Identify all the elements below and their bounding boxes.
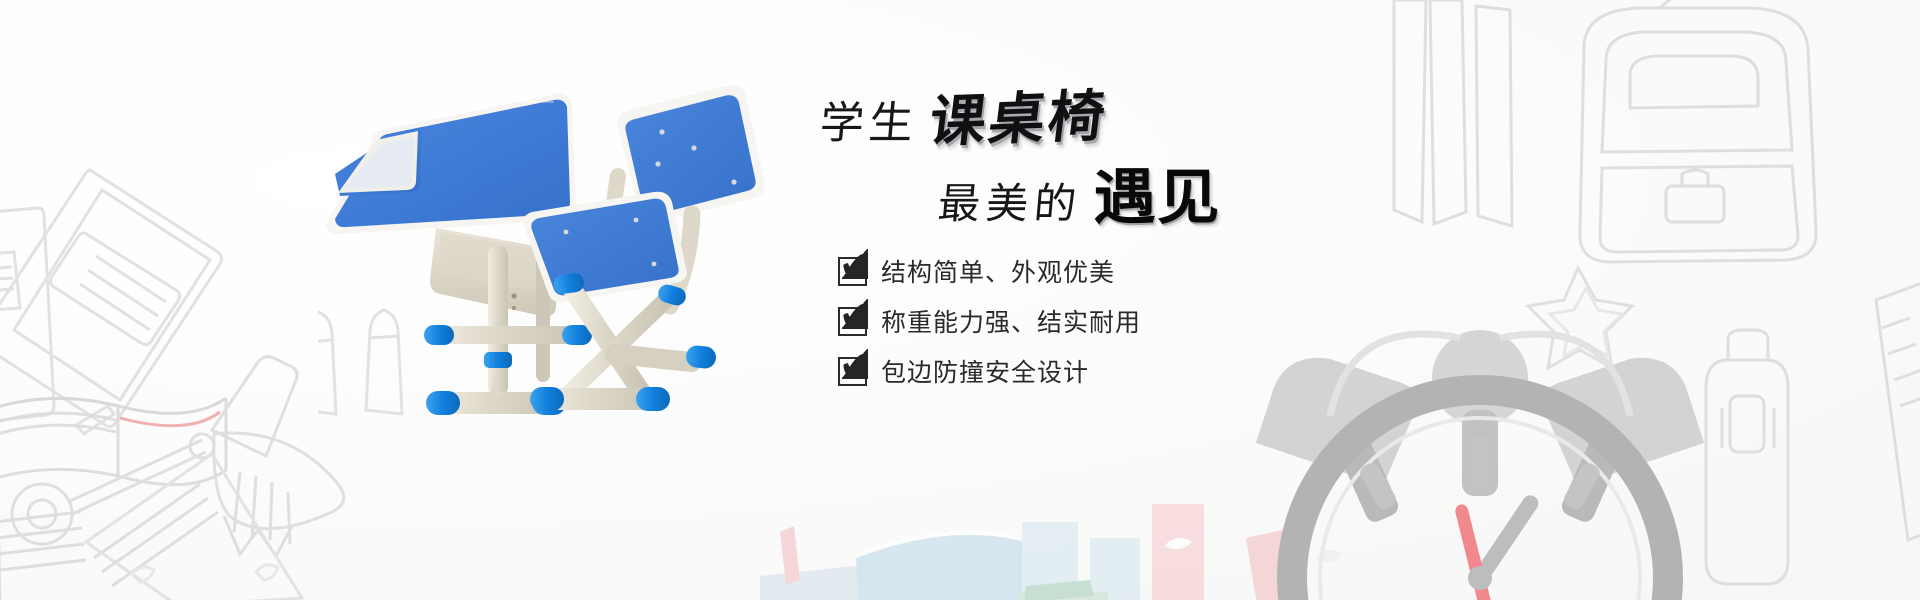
feature-label: 结构简单、外观优美 [881, 253, 1115, 289]
book-stack-art [760, 380, 1380, 600]
feature-item: ✔ 包边防撞安全设计 [838, 350, 1141, 392]
promo-banner: 学生 课桌椅 最美的 遇见 ✔ 结构简单、外观优美 ✔ 称重能力强、结实耐用 ✔ [0, 0, 1920, 600]
headline-line2-large: 遇见 [1094, 168, 1221, 228]
alarm-clock-art [1200, 230, 1760, 600]
checkbox-checked-icon: ✔ [838, 307, 867, 336]
feature-item: ✔ 结构简单、外观优美 [838, 250, 1141, 292]
student-desk-and-chair-photo [318, 80, 838, 460]
headline-line-2: 最美的 遇见 [938, 168, 1218, 228]
checkbox-checked-icon: ✔ [838, 357, 867, 386]
backpack-line-art [1330, 0, 1920, 600]
headline-block: 学生 课桌椅 最美的 遇见 [820, 92, 1460, 242]
feature-label: 包边防撞安全设计 [881, 353, 1089, 389]
headline-line1-small: 学生 [818, 102, 920, 146]
headline-line1-large: 课桌椅 [926, 89, 1111, 151]
headline: 学生 课桌椅 最美的 遇见 [820, 92, 1460, 242]
feature-label: 称重能力强、结实耐用 [881, 303, 1141, 339]
headline-line-1: 学生 课桌椅 [820, 92, 1107, 148]
checkbox-checked-icon: ✔ [838, 257, 867, 286]
feature-list: ✔ 结构简单、外观优美 ✔ 称重能力强、结实耐用 ✔ 包边防撞安全设计 [838, 250, 1141, 400]
feature-item: ✔ 称重能力强、结实耐用 [838, 300, 1141, 342]
headline-line2-small: 最美的 [936, 184, 1084, 226]
